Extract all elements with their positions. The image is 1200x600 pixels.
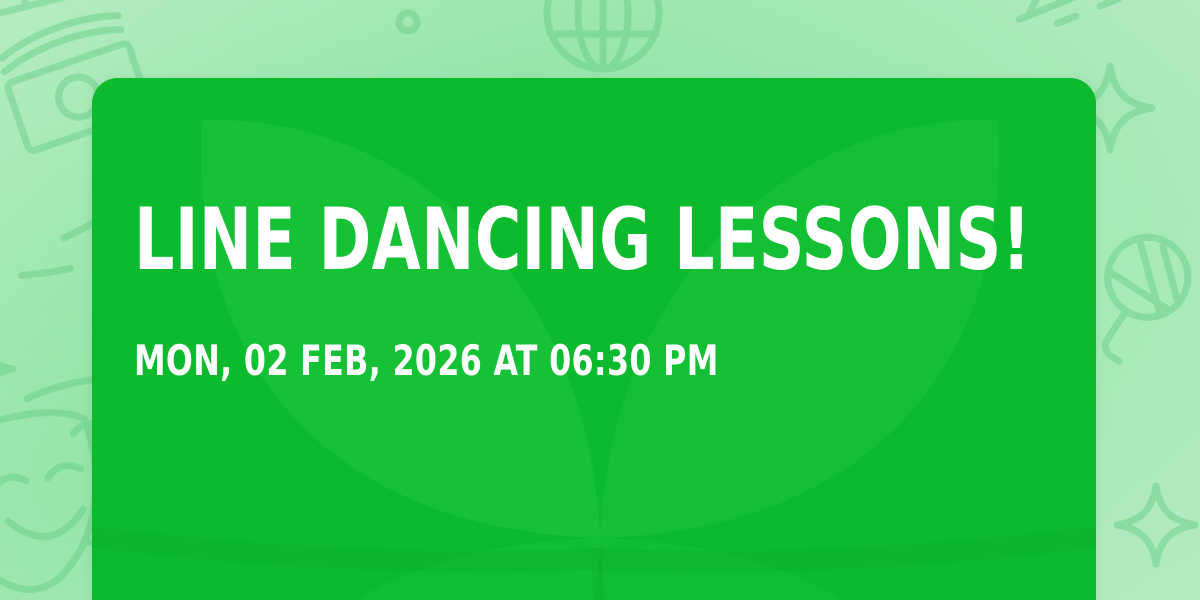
event-datetime: Mon, 02 Feb, 2026 at 06:30 PM bbox=[134, 340, 719, 382]
event-banner: Line Dancing Lessons! Mon, 02 Feb, 2026 … bbox=[0, 0, 1200, 600]
sparkle-icon bbox=[1117, 486, 1195, 564]
sparkle-icon bbox=[0, 336, 13, 402]
event-card[interactable]: Line Dancing Lessons! Mon, 02 Feb, 2026 … bbox=[92, 78, 1096, 600]
confetti-icon bbox=[999, 0, 1152, 36]
event-title: Line Dancing Lessons! bbox=[134, 200, 1031, 282]
ticket-icon bbox=[0, 0, 90, 15]
dash-mark-icon bbox=[22, 264, 71, 281]
circle-dot-icon bbox=[399, 13, 417, 31]
event-card-text: Line Dancing Lessons! Mon, 02 Feb, 2026 … bbox=[134, 78, 1056, 600]
globe-icon bbox=[547, 0, 659, 69]
